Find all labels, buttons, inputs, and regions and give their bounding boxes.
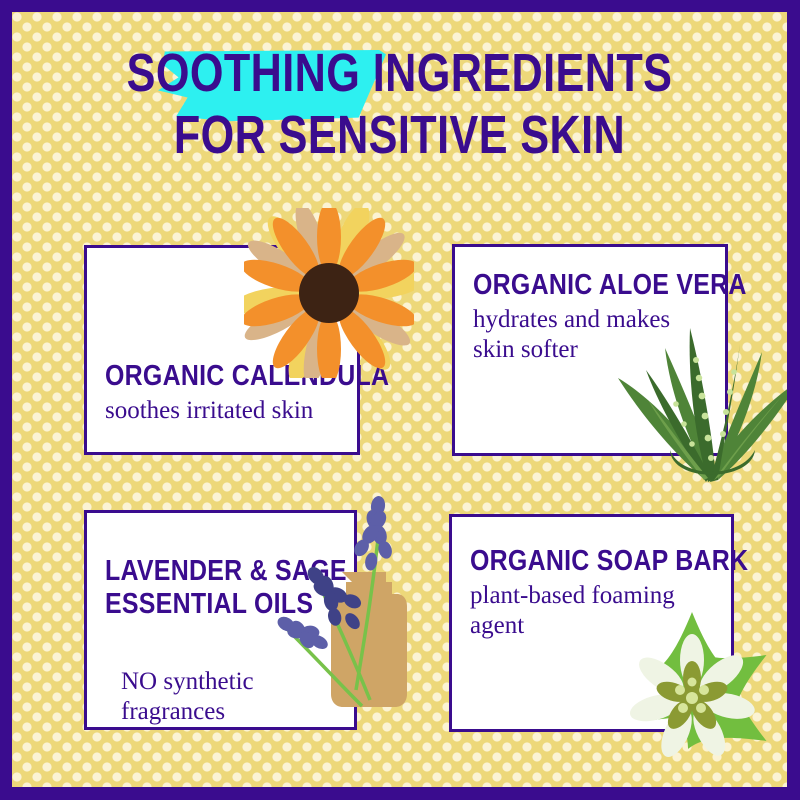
- card-heading-lavender-line-1: LAVENDER & SAGE: [105, 555, 304, 588]
- card-content-calendula: ORGANIC CALENDULA soothes irritated skin: [87, 248, 357, 452]
- title-line-2: FOR SENSITIVE SKIN: [90, 104, 710, 166]
- card-content-aloe-vera: ORGANIC ALOE VERA hydrates and makes ski…: [455, 247, 725, 453]
- title-highlight-word: SOOTHING: [127, 43, 361, 103]
- ingredient-card-calendula: ORGANIC CALENDULA soothes irritated skin: [84, 245, 360, 455]
- infographic-poster: SOOTHING INGREDIENTS FOR SENSITIVE SKIN …: [0, 0, 800, 800]
- card-content-lavender-sage: LAVENDER & SAGE ESSENTIAL OILS NO synthe…: [87, 513, 354, 727]
- card-body-lavender-sage: NO synthetic fragrances: [105, 667, 336, 727]
- card-body-aloe-vera: hydrates and makes skin softer: [473, 305, 707, 365]
- card-content-soap-bark: ORGANIC SOAP BARK plant-based foaming ag…: [452, 517, 731, 729]
- ingredient-card-aloe-vera: ORGANIC ALOE VERA hydrates and makes ski…: [452, 244, 728, 456]
- card-heading-aloe-vera: ORGANIC ALOE VERA: [473, 269, 674, 302]
- card-body-calendula: soothes irritated skin: [105, 396, 339, 426]
- card-body-soap-bark: plant-based foaming agent: [470, 581, 713, 641]
- title-line-1: SOOTHING INGREDIENTS: [90, 42, 710, 104]
- ingredient-card-lavender-sage: LAVENDER & SAGE ESSENTIAL OILS NO synthe…: [84, 510, 357, 730]
- polka-dot-background: SOOTHING INGREDIENTS FOR SENSITIVE SKIN …: [12, 12, 787, 787]
- card-heading-calendula: ORGANIC CALENDULA: [105, 360, 306, 393]
- ingredient-card-soap-bark: ORGANIC SOAP BARK plant-based foaming ag…: [449, 514, 734, 732]
- card-heading-soap-bark: ORGANIC SOAP BARK: [470, 545, 679, 578]
- card-heading-lavender-line-2: ESSENTIAL OILS: [105, 588, 304, 621]
- title-line-1-rest: INGREDIENTS: [360, 43, 672, 103]
- page-title: SOOTHING INGREDIENTS FOR SENSITIVE SKIN: [12, 42, 787, 166]
